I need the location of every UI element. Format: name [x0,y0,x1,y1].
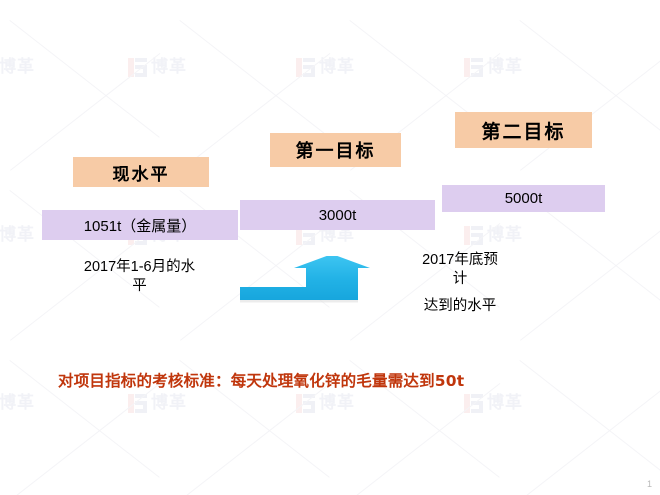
watermark-text: 博革 [487,227,523,244]
watermark-tile: 博革 [0,226,35,245]
bg-logo-icon [296,58,315,77]
note-current-level: 2017年1-6月的水 平 [62,258,217,295]
watermark-diagonal [350,383,500,495]
step-label-current: 现水平 [73,157,209,187]
page-number: 1 [647,479,652,489]
watermark-diagonal [10,53,160,171]
slide-canvas: 博革 博革 博革 博革 博革 博革 博革 博革 [0,0,660,495]
assessment-statement: 对项目指标的考核标准：每天处理氧化锌的毛量需达到50t [58,369,464,391]
note-target-2-level: 2017年底预 计 达到的水平 [404,251,516,316]
bg-logo-icon [464,226,483,245]
watermark-tile: 博革 [128,394,187,413]
watermark-text: 博革 [0,59,35,76]
watermark-diagonal [9,20,159,138]
watermark-tile: 博革 [0,394,35,413]
step-label-target-2: 第二目标 [455,112,592,148]
bg-logo-icon [464,58,483,77]
note-target-2-line-3: 达到的水平 [404,297,516,316]
bg-logo-icon [464,394,483,413]
watermark-diagonal [519,360,660,478]
note-current-line-2: 平 [62,277,217,296]
watermark-text: 博革 [0,395,35,412]
watermark-text: 博革 [487,395,523,412]
watermark-text: 博革 [319,395,355,412]
watermark-text: 博革 [0,227,35,244]
watermark-text: 博革 [487,59,523,76]
watermark-diagonal [10,383,160,495]
up-arrow-icon [240,256,370,308]
watermark-tile: 博革 [296,394,355,413]
bg-logo-icon [128,394,147,413]
step-value-current: 1051t（金属量） [42,210,238,240]
watermark-text: 博革 [151,395,187,412]
watermark-tile: 博革 [0,58,35,77]
watermark-layer: 博革 博革 博革 博革 博革 博革 博革 博革 [0,0,660,495]
watermark-text: 博革 [151,59,187,76]
step-value-target-2: 5000t [442,185,605,212]
watermark-diagonal [520,383,660,495]
note-current-line-1: 2017年1-6月的水 [62,258,217,277]
watermark-tile: 博革 [464,394,523,413]
watermark-tile: 博革 [464,58,523,77]
step-label-target-1: 第一目标 [270,133,401,167]
bg-logo-icon [128,58,147,77]
watermark-diagonal [179,20,329,138]
watermark-diagonal [520,223,660,341]
watermark-tile: 博革 [464,226,523,245]
watermark-tile: 博革 [128,58,187,77]
note-target-2-line-1: 2017年底预 [404,251,516,270]
watermark-tile: 博革 [296,58,355,77]
bg-logo-icon [296,394,315,413]
step-value-target-1: 3000t [240,200,435,230]
watermark-diagonal [180,383,330,495]
watermark-text: 博革 [319,59,355,76]
note-target-2-line-2: 计 [404,270,516,289]
